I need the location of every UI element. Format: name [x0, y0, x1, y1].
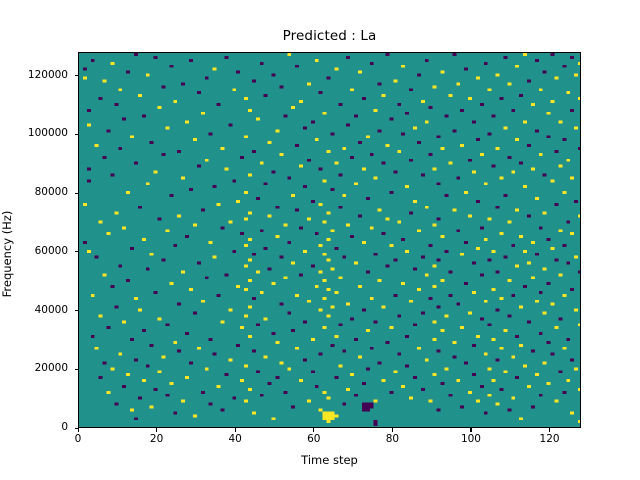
- x-tick-label: 20: [150, 434, 163, 445]
- x-tick-label: 120: [540, 434, 560, 445]
- x-tick-mark: [313, 428, 314, 432]
- heatmap-plot-area[interactable]: [78, 52, 581, 428]
- x-tick-mark: [549, 428, 550, 432]
- x-axis-label: Time step: [78, 453, 581, 467]
- y-axis-label: Frequency (Hz): [0, 66, 14, 442]
- y-tick-label: 120000: [28, 70, 68, 81]
- y-tick-label: 20000: [35, 363, 68, 374]
- x-tick-label: 40: [229, 434, 242, 445]
- matplotlib-figure: Predicted : La Frequency (Hz) 0200004000…: [0, 0, 640, 480]
- y-tick-label: 0: [61, 422, 68, 433]
- x-tick-label: 80: [386, 434, 399, 445]
- y-tick-label: 80000: [35, 187, 68, 198]
- y-tick-label: 60000: [35, 246, 68, 257]
- x-tick-mark: [78, 428, 79, 432]
- x-tick-mark: [235, 428, 236, 432]
- x-tick-label: 60: [307, 434, 320, 445]
- y-tick-label: 100000: [28, 128, 68, 139]
- page-title: Predicted : La: [78, 28, 581, 44]
- y-tick-label: 40000: [35, 305, 68, 316]
- heatmap-image: [79, 53, 581, 428]
- x-tick-mark: [470, 428, 471, 432]
- x-tick-label: 100: [461, 434, 481, 445]
- x-tick-mark: [156, 428, 157, 432]
- x-tick-label: 0: [75, 434, 82, 445]
- x-tick-mark: [392, 428, 393, 432]
